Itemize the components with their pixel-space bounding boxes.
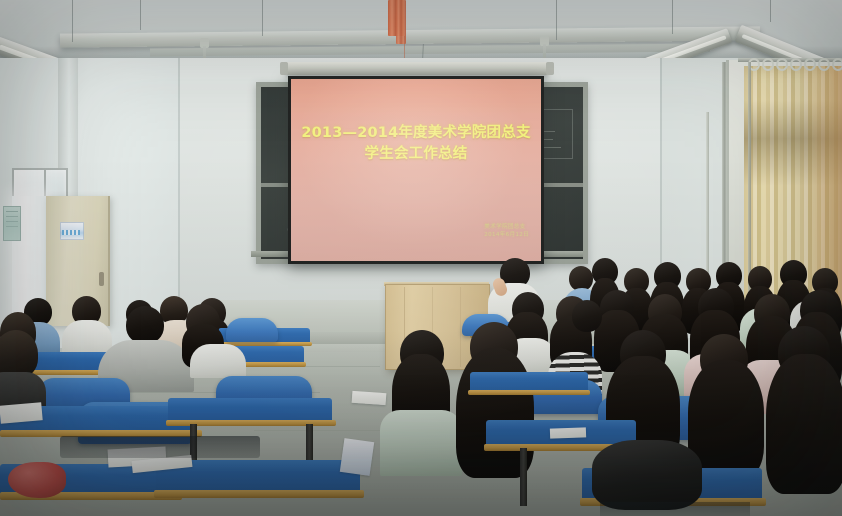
person-body <box>380 410 462 476</box>
chalk-mark <box>543 147 561 148</box>
desk-under-shadow <box>60 436 260 458</box>
slide-title: 2013—2014年度美术学院团总支 学生会工作总结 <box>291 123 541 165</box>
curtain-ring <box>790 58 802 71</box>
desk-under-shadow <box>600 502 750 516</box>
black-handbag <box>592 440 702 510</box>
suspension-wire <box>556 0 557 40</box>
person-head <box>572 300 602 332</box>
person-body <box>190 344 246 378</box>
paper-handout <box>550 427 586 438</box>
slide-signature: 美术学院团总支 2014年6月12日 <box>484 223 529 239</box>
suspension-wire <box>72 0 73 42</box>
student-desk <box>470 372 588 392</box>
suspension-wire <box>140 0 141 30</box>
chair-back <box>226 318 278 342</box>
red-bag <box>8 462 66 498</box>
projection-screen-frame: 2013—2014年度美术学院团总支 学生会工作总结 美术学院团总支 2014年… <box>288 76 544 264</box>
projector-hotspot <box>291 79 541 123</box>
projector-screen-roller <box>286 62 548 75</box>
slide-signature-org: 美术学院团总支 <box>484 223 529 231</box>
roller-end-cap <box>546 62 554 75</box>
desk-edge <box>468 390 590 395</box>
suspension-wire <box>770 0 771 22</box>
projection-screen: 2013—2014年度美术学院团总支 学生会工作总结 美术学院团总支 2014年… <box>291 79 541 261</box>
curtain-ring <box>762 58 774 71</box>
roller-end-cap <box>280 62 288 75</box>
curtain-ring <box>776 58 788 71</box>
slide-signature-date: 2014年6月12日 <box>484 231 529 239</box>
suspension-wire <box>672 0 673 34</box>
paper-handout <box>0 402 43 424</box>
slide-title-line-2: 学生会工作总结 <box>291 144 541 165</box>
curtain-ring <box>818 58 830 71</box>
door-notice-detail <box>62 230 80 235</box>
slide-title-line-1: 2013—2014年度美术学院团总支 <box>301 125 530 141</box>
classroom-photo: 2013—2014年度美术学院团总支 学生会工作总结 美术学院团总支 2014年… <box>0 0 842 516</box>
wall-notice-sign <box>3 206 21 241</box>
wall-seam <box>178 58 180 308</box>
curtain-ring <box>804 58 816 71</box>
paper-handout <box>352 391 387 405</box>
desk-leg <box>520 448 527 506</box>
suspension-wire <box>262 0 263 36</box>
door-handle[interactable] <box>99 272 104 286</box>
floor-seam <box>254 430 384 431</box>
person-head <box>0 330 38 378</box>
paper-handout <box>340 438 374 476</box>
person-head <box>126 306 164 344</box>
curtain-ring <box>832 58 842 71</box>
person-hair <box>766 354 842 494</box>
desk-edge <box>154 490 364 498</box>
